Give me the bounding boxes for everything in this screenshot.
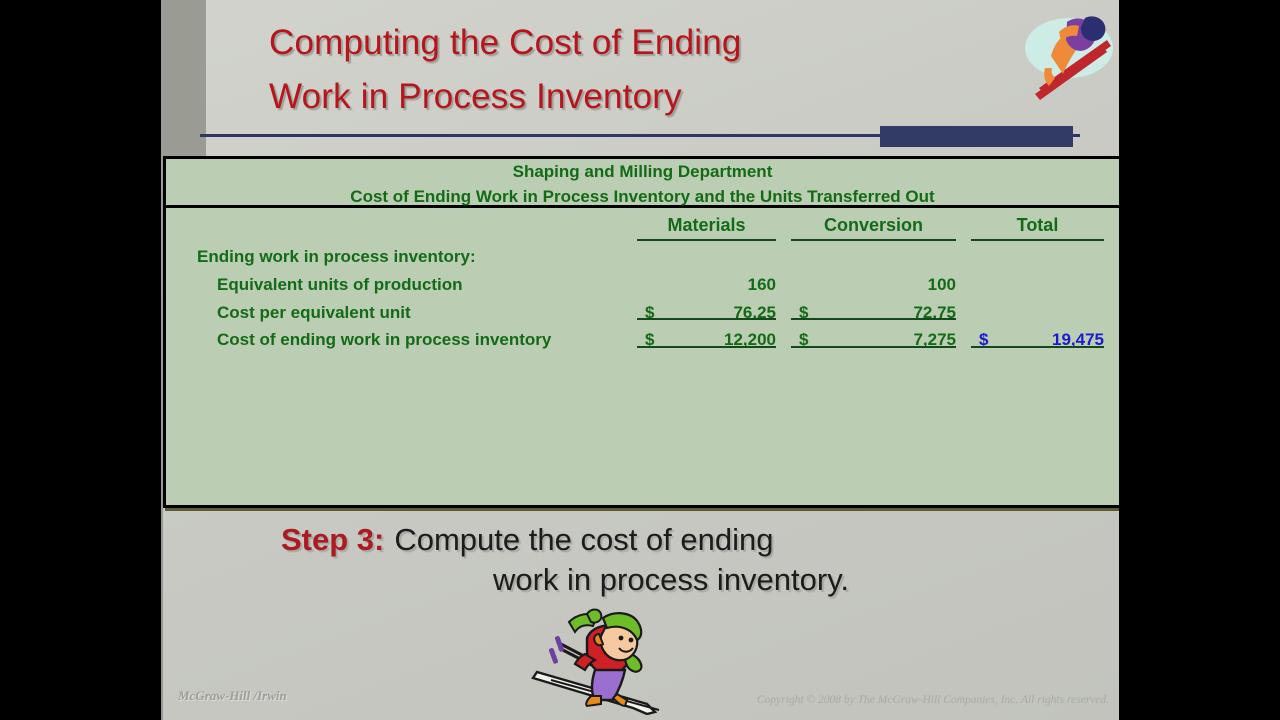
downhill-skier-icon: [1021, 2, 1119, 107]
column-header-total: Total: [971, 215, 1104, 236]
step-label: Step 3:: [281, 522, 384, 557]
cartoon-skier-icon: [529, 600, 689, 715]
page-title-line1: Computing the Cost of Ending: [269, 16, 969, 70]
table-row: Ending work in process inventory:: [166, 247, 1119, 274]
caption-line1: Step 3:Compute the cost of ending: [281, 520, 1021, 560]
slide-header: Computing the Cost of Ending Work in Pro…: [161, 0, 1119, 157]
footer-left: McGraw-Hill /Irwin: [178, 688, 287, 704]
row-label: Ending work in process inventory:: [197, 247, 476, 267]
subtotal-rule-materials: [637, 318, 776, 320]
caption-text1: Compute the cost of ending: [394, 522, 773, 557]
column-rule-conversion: [791, 239, 956, 241]
screen: Computing the Cost of Ending Work in Pro…: [0, 0, 1280, 720]
column-header-conversion: Conversion: [791, 215, 956, 236]
page-title-line2: Work in Process Inventory: [269, 70, 969, 124]
slide-canvas: Computing the Cost of Ending Work in Pro…: [161, 0, 1119, 720]
table-row: Cost of ending work in process inventory…: [166, 330, 1119, 357]
cell-conversion: 72.75: [791, 303, 956, 323]
table-row: Equivalent units of production 160 100: [166, 275, 1119, 302]
row-label: Cost per equivalent unit: [217, 303, 411, 323]
cell-conversion: 100: [791, 275, 956, 295]
column-header-materials: Materials: [637, 215, 776, 236]
step-caption: Step 3:Compute the cost of ending work i…: [281, 520, 1021, 600]
total-rule-materials: [637, 346, 776, 348]
row-label: Equivalent units of production: [217, 275, 463, 295]
total-rule-total: [971, 346, 1104, 348]
subtotal-rule-conversion: [791, 318, 956, 320]
row-label: Cost of ending work in process inventory: [217, 330, 551, 350]
column-rule-materials: [637, 239, 776, 241]
page-title: Computing the Cost of Ending Work in Pro…: [269, 16, 969, 124]
table-row: Cost per equivalent unit $ 76.25 $ 72.75: [166, 303, 1119, 330]
table-heading-line1: Shaping and Milling Department: [166, 159, 1119, 184]
caption-line2: work in process inventory.: [281, 560, 1021, 600]
table-heading: Shaping and Milling Department Cost of E…: [166, 159, 1119, 208]
cost-table: Shaping and Milling Department Cost of E…: [163, 156, 1119, 508]
cell-materials: 76.25: [637, 303, 776, 323]
cell-materials: 160: [637, 275, 776, 295]
table-heading-line2: Cost of Ending Work in Process Inventory…: [166, 184, 1119, 209]
total-rule-conversion: [791, 346, 956, 348]
column-rule-total: [971, 239, 1104, 241]
header-rule-block: [880, 126, 1073, 147]
footer-right: Copyright © 2008 by The McGraw-Hill Comp…: [757, 694, 1109, 706]
